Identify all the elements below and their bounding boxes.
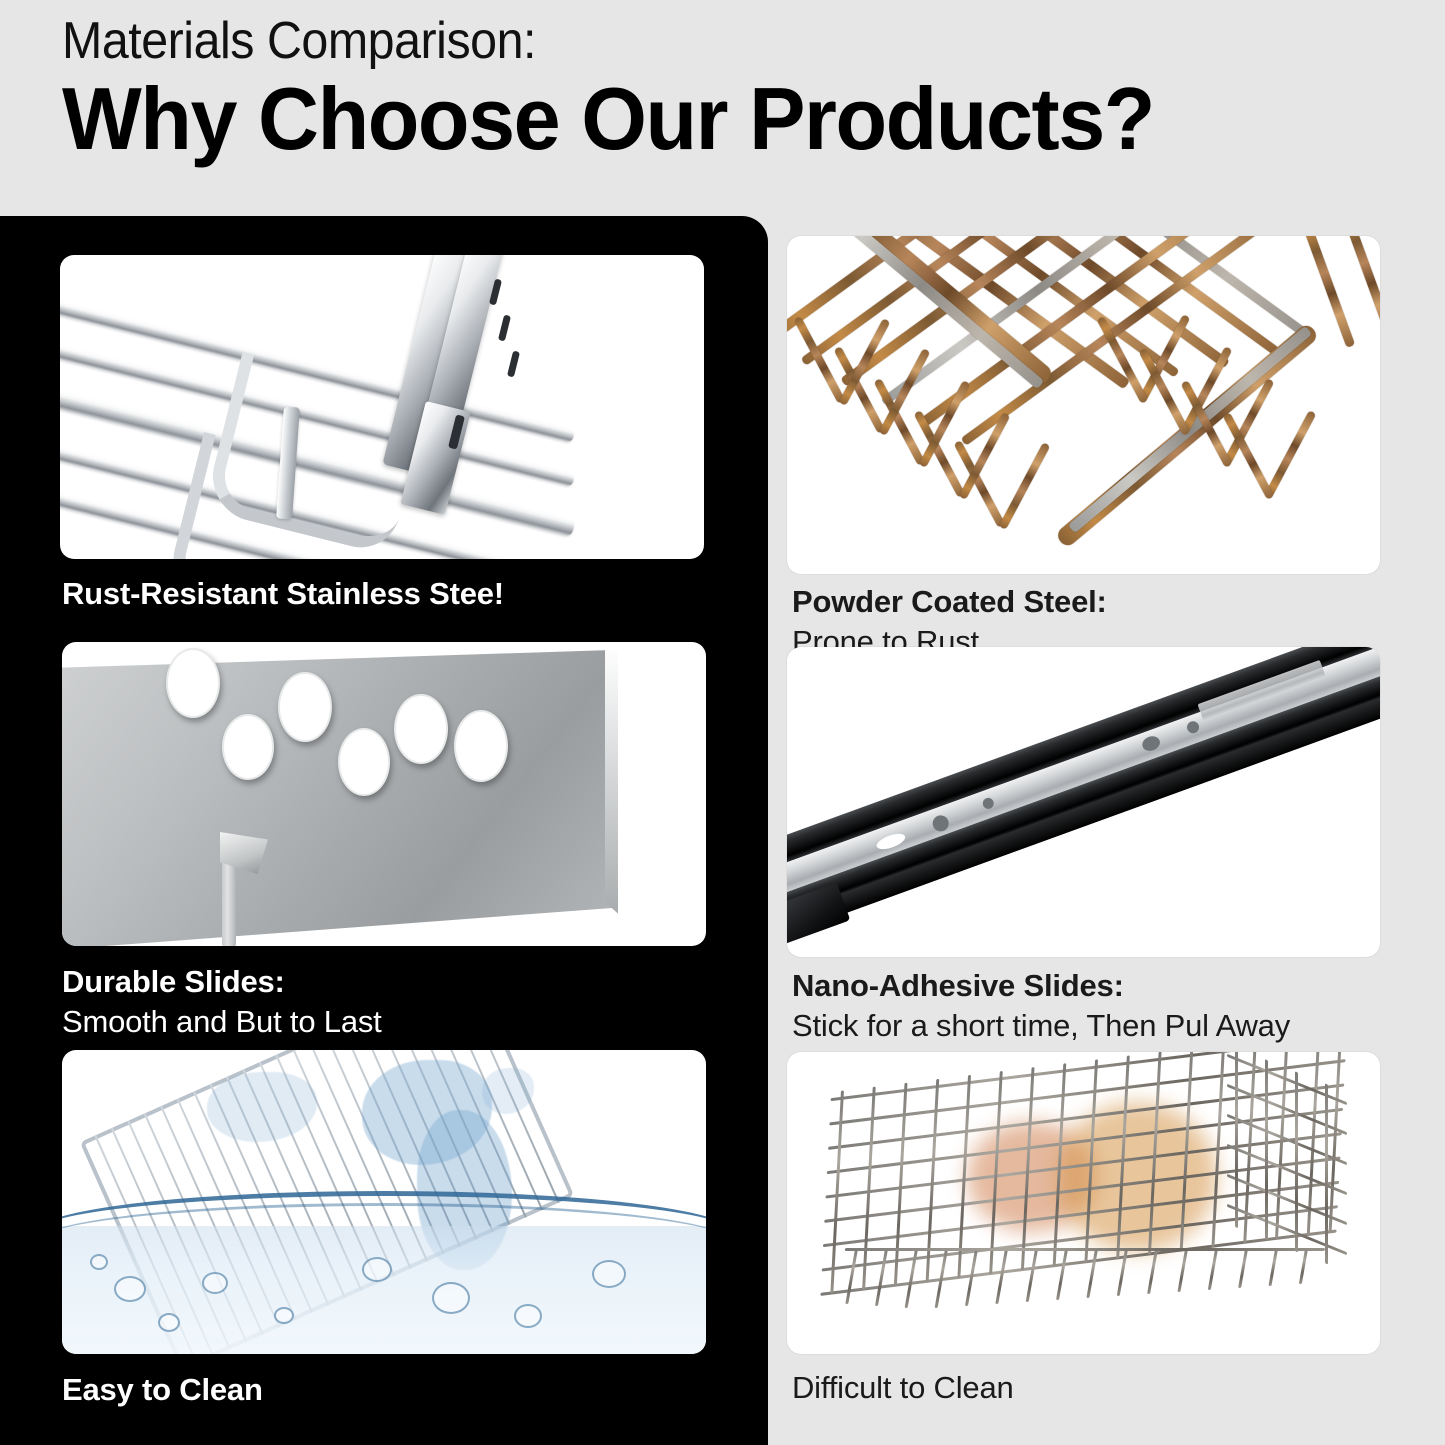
competitor-caption-2: Nano-Adhesive Slides: Stick for a short … xyxy=(792,968,1290,1044)
caption-line-primary: Difficult to Clean xyxy=(792,1370,1014,1407)
caption-line-secondary: Stick for a short time, Then Pul Away xyxy=(792,1008,1290,1045)
caption-line-primary: Rust-Resistant Stainless Stee! xyxy=(62,576,504,613)
caption-line-primary: Easy to Clean xyxy=(62,1372,263,1409)
caption-line-primary: Nano-Adhesive Slides: xyxy=(792,968,1290,1005)
competitor-caption-3: Difficult to Clean xyxy=(792,1370,1014,1407)
wire-rack-in-water-splash-photo xyxy=(62,1050,706,1354)
our-product-caption-2: Durable Slides: Smooth and But to Last xyxy=(62,964,382,1040)
stained-dirty-wire-basket-photo xyxy=(787,1052,1380,1354)
page-title: Why Choose Our Products? xyxy=(62,73,1368,165)
our-product-caption-3: Easy to Clean xyxy=(62,1372,263,1409)
caption-line-primary: Durable Slides: xyxy=(62,964,382,1001)
caption-line-secondary: Smooth and But to Last xyxy=(62,1004,382,1041)
metal-slide-plate-with-holes-photo xyxy=(62,642,706,946)
materials-comparison-infographic: Materials Comparison: Why Choose Our Pro… xyxy=(0,0,1445,1445)
rusty-wire-mesh-basket-photo xyxy=(787,236,1380,574)
black-ball-bearing-drawer-slide-photo xyxy=(787,647,1380,957)
header-subtitle: Materials Comparison: xyxy=(62,14,1327,69)
competitor-products-column: Powder Coated Steel: Prone to Rust xyxy=(768,216,1445,1445)
our-products-column: Rust-Resistant Stainless Stee! xyxy=(0,216,768,1445)
header: Materials Comparison: Why Choose Our Pro… xyxy=(62,14,1422,166)
our-product-caption-1: Rust-Resistant Stainless Stee! xyxy=(62,576,504,613)
caption-line-primary: Powder Coated Steel: xyxy=(792,584,1107,621)
stainless-steel-wire-rack-photo xyxy=(60,255,704,559)
